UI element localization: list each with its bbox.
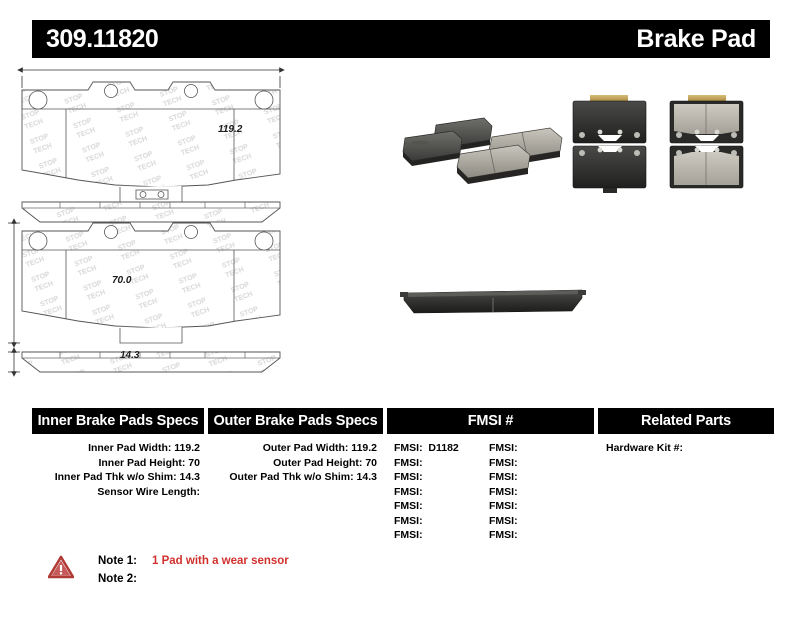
header-inner-brake-pads-specs: Inner Brake Pads Specs [32,408,204,434]
fmsi-line: FMSI: [394,499,489,514]
note-1-label: Note 1: [98,552,144,570]
fmsi-line: FMSI: [489,441,584,456]
thickness-dimension-line [8,352,20,372]
pad-photo-item [670,95,743,143]
header-fmsi: FMSI # [387,408,594,434]
specs-table-body: Inner Pad Width: 119.2 Inner Pad Height:… [32,434,770,543]
notes-text-block: Note 1: 1 Pad with a wear sensor Note 2: [98,552,289,588]
part-number: 309.11820 [46,27,158,52]
pad-side-profile-lower [22,352,280,372]
fmsi-line: FMSI: [489,514,584,529]
fmsi-line: FMSI: [394,470,489,485]
fmsi-line: FMSI: D1182 [394,441,489,456]
fmsi-left-list: FMSI: D1182 FMSI: FMSI: FMSI: FMSI: FMSI… [394,441,489,543]
header-related-parts: Related Parts [598,408,774,434]
header-outer-brake-pads-specs: Outer Brake Pads Specs [208,408,383,434]
height-dimension-line [8,223,20,343]
note-2-row: Note 2: [98,570,289,588]
spec-line: Inner Pad Width: 119.2 [32,441,200,456]
pad-photo-item [573,146,646,193]
related-parts-column: Hardware Kit #: [598,441,774,543]
spec-line: Inner Pad Height: 70 [32,456,200,471]
fmsi-column: FMSI: D1182 FMSI: FMSI: FMSI: FMSI: FMSI… [387,441,594,543]
fmsi-line: FMSI: [394,485,489,500]
specs-table: Inner Brake Pads Specs Outer Brake Pads … [32,408,770,543]
spec-line: Outer Pad Width: 119.2 [208,441,377,456]
width-dimension-line [22,70,280,88]
related-part-line: Hardware Kit #: [606,441,774,456]
title-bar: 309.11820 Brake Pad [32,20,770,58]
pad-photo-item [403,131,462,166]
photo-pad-edge-profile [398,270,588,325]
pad-photo-item [670,146,743,188]
fmsi-line: FMSI: [489,528,584,543]
spec-line: Outer Pad Height: 70 [208,456,377,471]
technical-drawings-svg: STOP TECH [0,62,380,392]
fmsi-line: FMSI: [394,528,489,543]
dimension-width-label: 119.2 [218,124,242,135]
pad-photo-item [457,145,530,184]
note-1-value: 1 Pad with a wear sensor [152,552,289,570]
specs-table-header-row: Inner Brake Pads Specs Outer Brake Pads … [32,408,770,434]
notes-section: Note 1: 1 Pad with a wear sensor Note 2: [48,552,289,588]
photo-four-pads-flat [570,90,752,195]
fmsi-line: FMSI: [489,485,584,500]
note-1-row: Note 1: 1 Pad with a wear sensor [98,552,289,570]
fmsi-line: FMSI: [394,456,489,471]
dimension-height-label: 70.0 [112,275,131,286]
dimension-thickness-label: 14.3 [120,350,139,361]
spec-line: Outer Pad Thk w/o Shim: 14.3 [208,470,377,485]
note-2-label: Note 2: [98,570,144,588]
inner-specs-column: Inner Pad Width: 119.2 Inner Pad Height:… [32,441,204,543]
photo-four-pads-angled [400,95,575,190]
outer-specs-column: Outer Pad Width: 119.2 Outer Pad Height:… [208,441,383,543]
product-illustration-area: STOP TECH [0,62,800,392]
spec-line: Inner Pad Thk w/o Shim: 14.3 [32,470,200,485]
pad-photo-item [400,290,586,313]
pad-photo-item [573,95,646,143]
fmsi-right-list: FMSI: FMSI: FMSI: FMSI: FMSI: FMSI: FMSI… [489,441,584,543]
part-type-label: Brake Pad [636,27,756,52]
fmsi-line: FMSI: [489,456,584,471]
fmsi-line: FMSI: [394,514,489,529]
pad-side-profile-upper [22,202,280,222]
fmsi-line: FMSI: [489,470,584,485]
pad-front-view-bottom [22,223,280,328]
warning-triangle-icon [48,555,74,579]
spec-line: Sensor Wire Length: [32,485,200,500]
fmsi-line: FMSI: [489,499,584,514]
